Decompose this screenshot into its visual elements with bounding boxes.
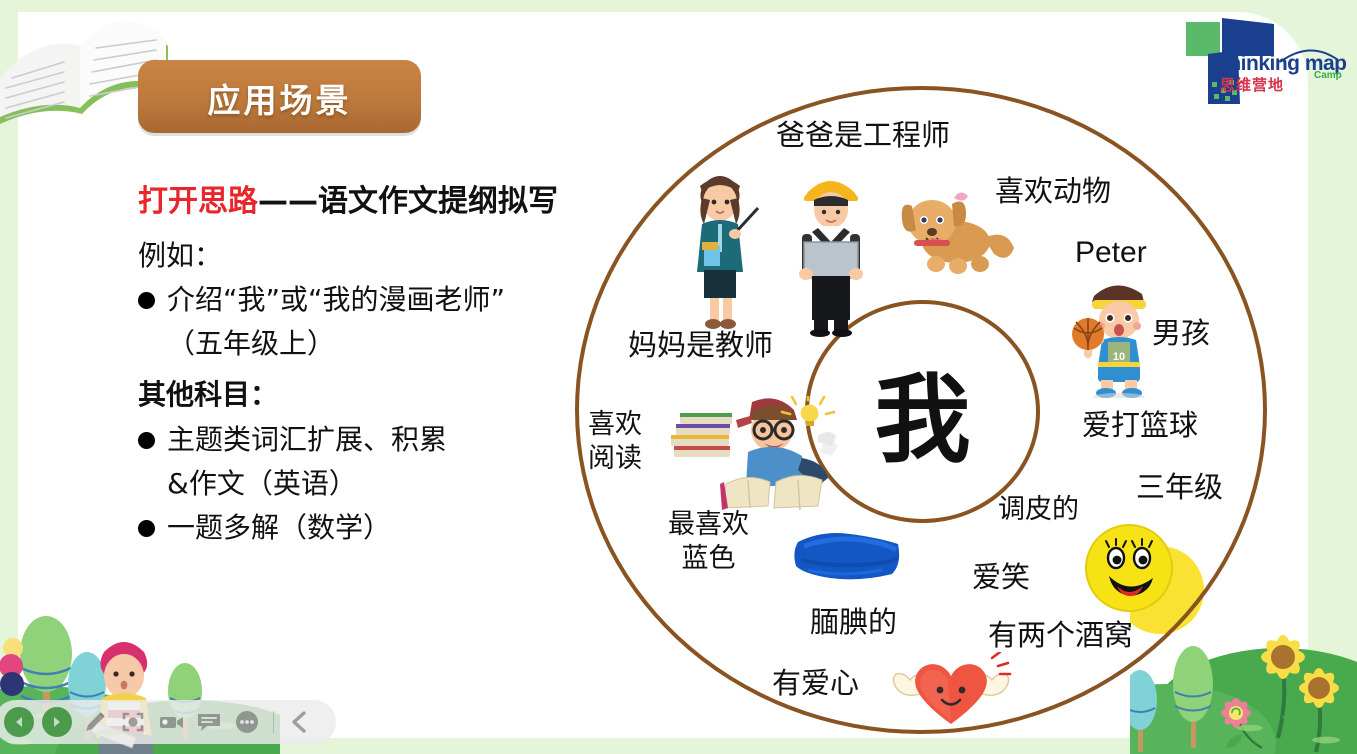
list-item: 一题多解（数学） <box>138 506 608 550</box>
reading-boy-illustration <box>666 396 844 514</box>
more-dots-icon <box>236 711 258 733</box>
bubble-node-reading: 喜欢 阅读 <box>588 408 642 476</box>
teacher-woman-illustration <box>678 170 760 330</box>
example-label: 例如： <box>138 234 608 278</box>
section-title-banner: 应用场景 <box>138 60 421 133</box>
main-heading: 打开思路——语文作文提纲拟写 <box>138 182 608 222</box>
video-camera-icon <box>160 717 183 728</box>
bubble-node-peter: Peter <box>1075 236 1147 270</box>
next-arrow-icon <box>49 714 65 730</box>
collapse-toolbar-button[interactable] <box>285 707 315 737</box>
bubble-map-diagram: 我 <box>570 78 1280 738</box>
bubble-node-smile: 爱笑 <box>972 560 1030 594</box>
record-button[interactable] <box>156 707 186 737</box>
chevron-left-icon <box>294 713 304 731</box>
svg-text:10: 10 <box>1113 351 1125 363</box>
heading-highlight: 打开思路 <box>138 184 258 219</box>
presentation-toolbar[interactable] <box>0 700 336 744</box>
bubble-node-grade: 三年级 <box>1136 470 1223 504</box>
previous-arrow-icon <box>11 714 27 730</box>
winged-heart-illustration <box>888 652 1014 734</box>
bubble-node-basketball: 爱打篮球 <box>1082 408 1198 442</box>
smiley-face-illustration <box>1083 522 1175 614</box>
list-item: 主题类词汇扩展、积累 <box>138 418 608 462</box>
bubble-node-blue: 最喜欢 蓝色 <box>668 508 749 576</box>
pen-button[interactable] <box>80 707 110 737</box>
bullet-dot-icon <box>138 520 155 537</box>
bubble-node-dad: 爸爸是工程师 <box>776 118 950 152</box>
engineer-man-illustration <box>786 170 876 338</box>
bubble-node-naughty: 调皮的 <box>998 493 1079 527</box>
slide-stage: Thinking map Camp 思维营地 应用场景 打开思路——语文作文提纲… <box>0 0 1357 754</box>
previous-slide-button[interactable] <box>4 707 34 737</box>
more-options-button[interactable] <box>232 707 262 737</box>
logo-swoosh-icon <box>1278 44 1340 66</box>
blue-paint-stroke-illustration <box>792 526 904 580</box>
comment-button[interactable] <box>194 707 224 737</box>
bubble-node-boy: 男孩 <box>1152 316 1210 350</box>
bubble-node-mom: 妈妈是教师 <box>628 328 773 362</box>
bubble-node-dimple: 有两个酒窝 <box>988 618 1133 652</box>
other-subject-bullet-text-2: 一题多解（数学） <box>167 506 391 550</box>
example-bullet-sub: （五年级上） <box>138 322 608 366</box>
next-slide-button[interactable] <box>42 707 72 737</box>
bubble-node-animal: 喜欢动物 <box>995 174 1111 208</box>
example-bullet-text: 介绍“我”或“我的漫画老师” <box>167 278 505 322</box>
heading-rest: ——语文作文提纲拟写 <box>258 184 558 219</box>
other-subject-bullet-text-1: 主题类词汇扩展、积累 <box>167 418 447 462</box>
bubble-node-loving: 有爱心 <box>772 666 859 700</box>
other-subject-sub-1: &作文（英语） <box>138 462 608 506</box>
page-title: 应用场景 <box>138 74 421 122</box>
other-subjects-label: 其他科目： <box>138 372 608 418</box>
pen-icon <box>86 713 104 731</box>
comment-icon <box>198 714 220 731</box>
capture-button[interactable] <box>118 707 148 737</box>
capture-dot-icon <box>128 717 137 726</box>
bullet-dot-icon <box>138 292 155 309</box>
logo-camp-text: Camp <box>1314 70 1342 81</box>
toolbar-divider <box>273 711 274 733</box>
list-item: 介绍“我”或“我的漫画老师” <box>138 278 608 322</box>
left-text-panel: 打开思路——语文作文提纲拟写 例如： 介绍“我”或“我的漫画老师” （五年级上）… <box>138 182 608 550</box>
bubble-node-shy: 腼腆的 <box>810 605 897 639</box>
bullet-dot-icon <box>138 432 155 449</box>
